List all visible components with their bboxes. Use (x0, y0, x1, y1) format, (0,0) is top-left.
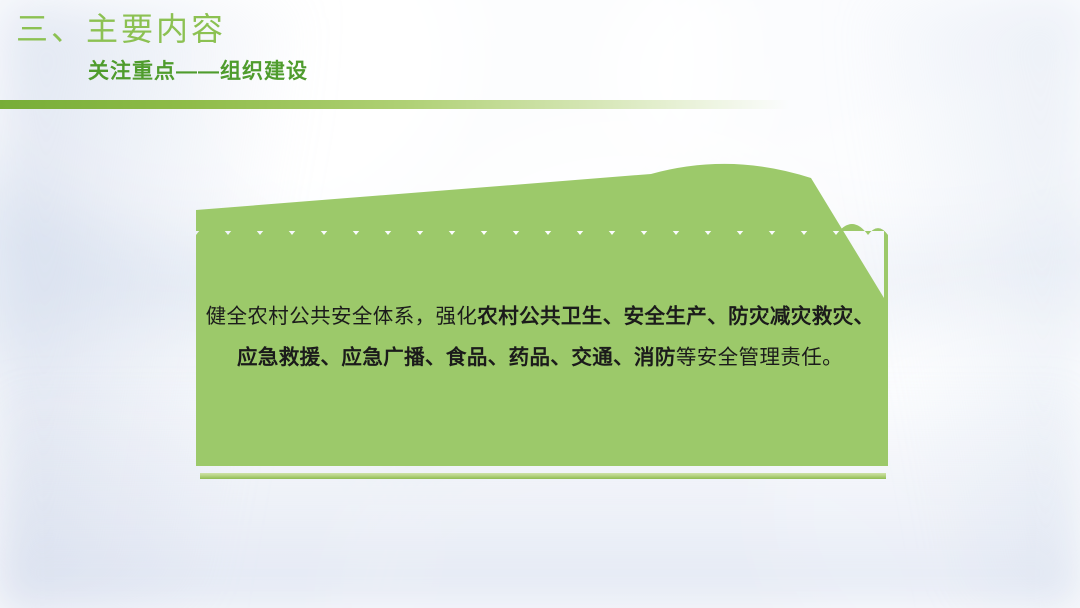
text-plain: 健全农村公共安全体系，强化 (206, 305, 478, 328)
content-card-text: 健全农村公共安全体系，强化农村公共卫生、安全生产、防灾减灾救灾、应急救援、应急广… (200, 296, 880, 378)
content-card-underline (200, 473, 886, 479)
section-title: 三、主要内容 (16, 8, 226, 50)
slide-canvas: 三、主要内容 关注重点——组织建设 健全农村公共安全体系，强化农村公共卫生、安全… (0, 0, 1080, 608)
content-card-paragraph: 健全农村公共安全体系，强化农村公共卫生、安全生产、防灾减灾救灾、应急救援、应急广… (206, 305, 875, 369)
header-divider-rule (0, 100, 790, 109)
section-subtitle: 关注重点——组织建设 (88, 58, 308, 86)
text-plain: 等安全管理责任。 (676, 346, 843, 369)
